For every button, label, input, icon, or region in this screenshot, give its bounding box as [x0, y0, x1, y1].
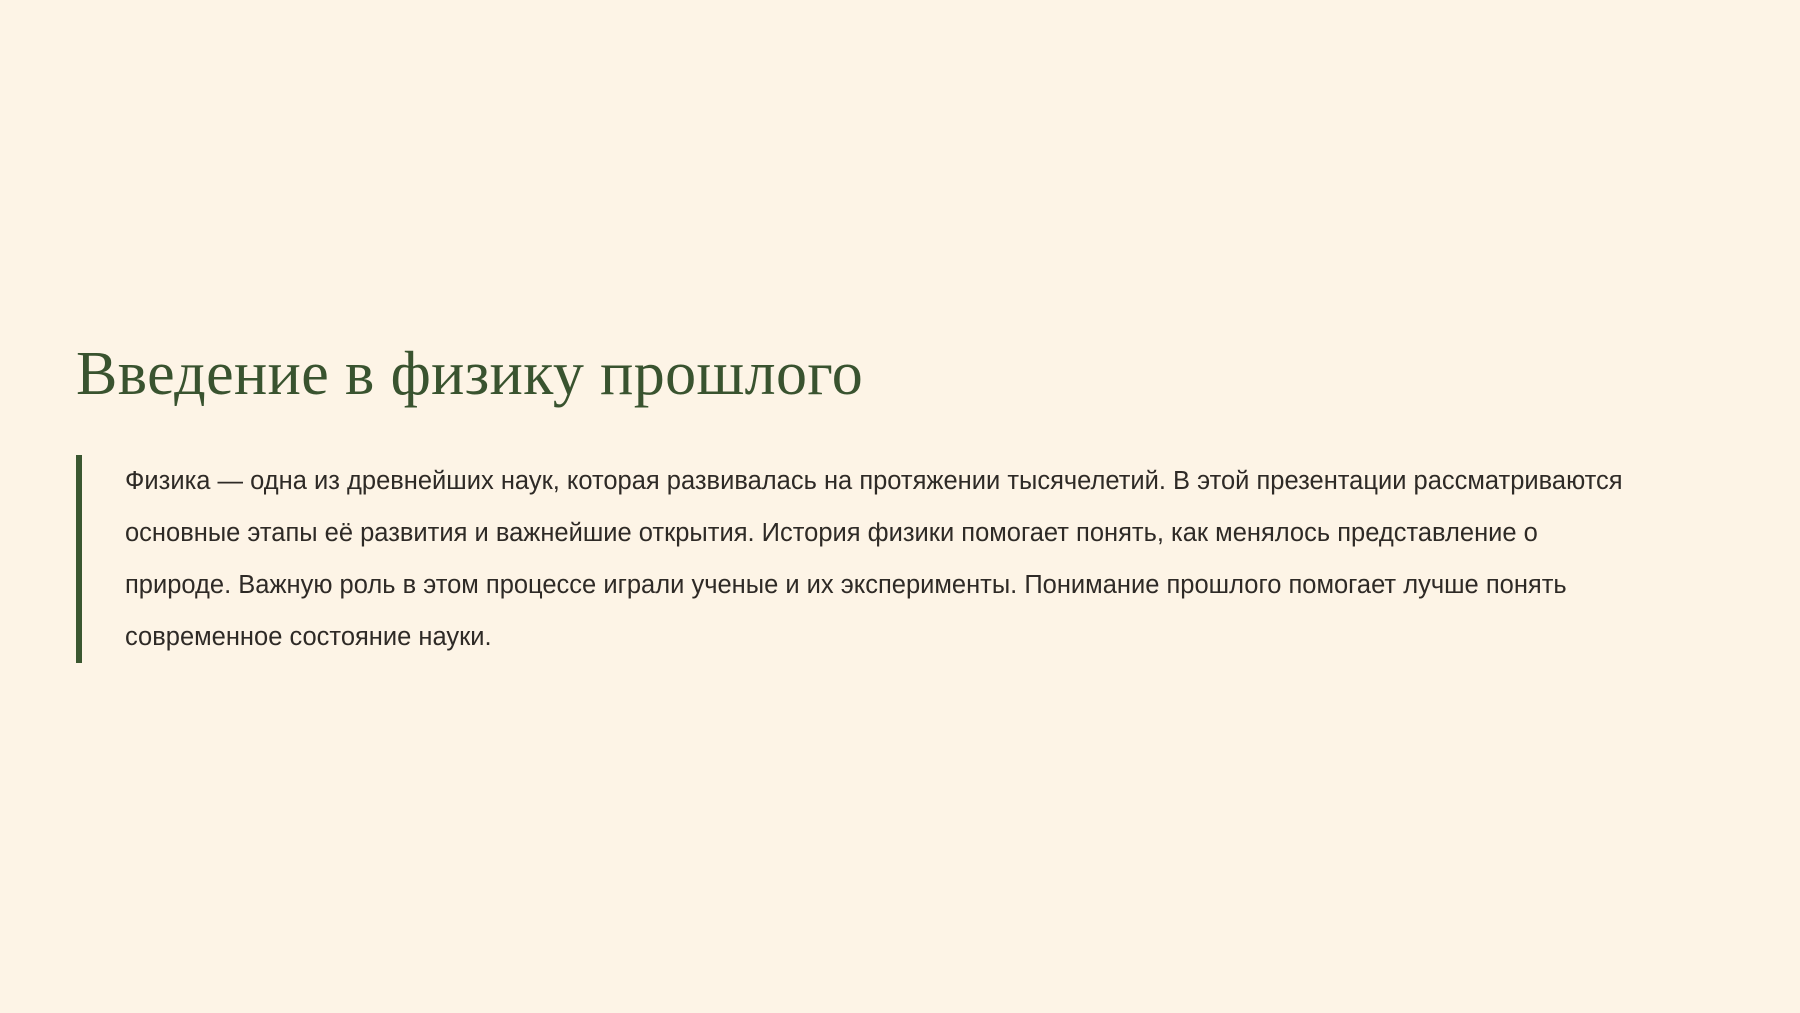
- presentation-slide: Введение в физику прошлого Физика — одна…: [0, 0, 1800, 1013]
- page-title: Введение в физику прошлого: [76, 340, 1706, 409]
- body-paragraph: Физика — одна из древнейших наук, котора…: [125, 455, 1635, 663]
- body-text-wrap: Физика — одна из древнейших наук, котора…: [82, 455, 1706, 663]
- body-callout: Физика — одна из древнейших наук, котора…: [76, 455, 1706, 663]
- slide-content: Введение в физику прошлого Физика — одна…: [76, 340, 1706, 663]
